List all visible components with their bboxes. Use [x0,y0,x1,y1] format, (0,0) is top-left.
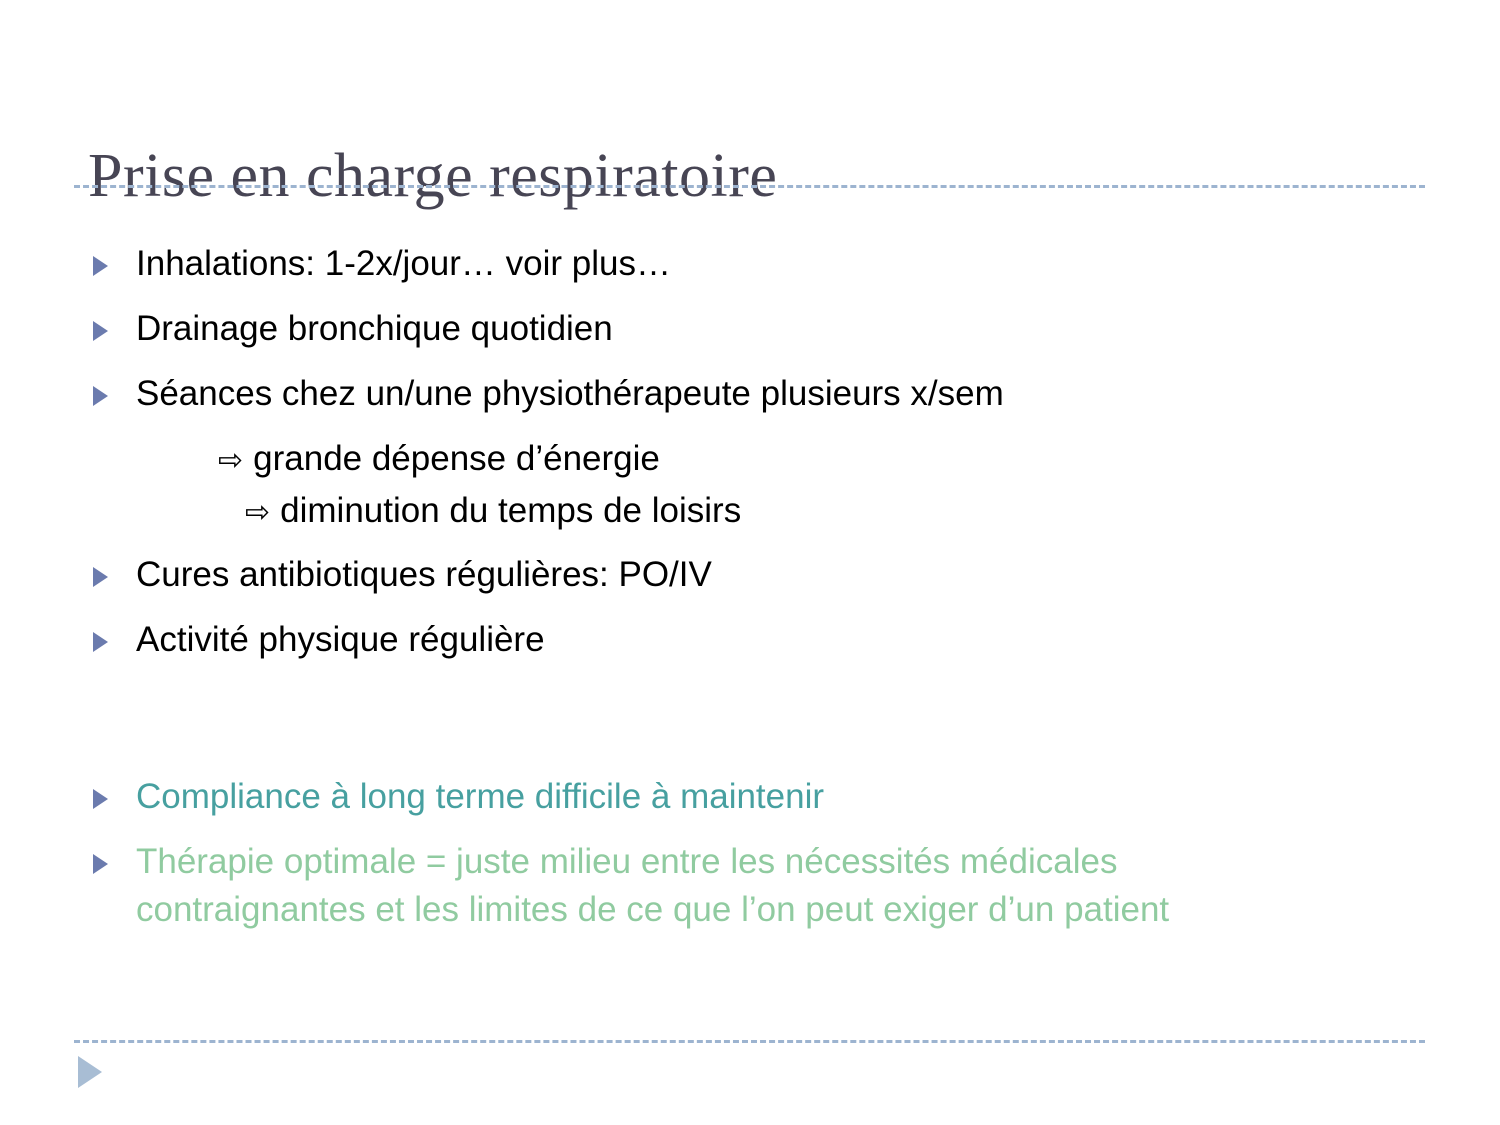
right-arrow-icon: ⇨ [245,495,280,530]
list-item-label: Inhalations: 1-2x/jour… voir plus… [136,244,671,283]
list-item[interactable]: Cures antibiotiques régulières: PO/IV [0,551,1500,599]
list-item[interactable]: Séances chez un/une physiothérapeute plu… [0,370,1500,418]
triangle-bullet-icon [93,321,108,341]
footer-divider [74,1040,1425,1043]
list-item[interactable]: Inhalations: 1-2x/jour… voir plus… [0,240,1500,288]
list-item-label: Séances chez un/une physiothérapeute plu… [136,374,1004,413]
content-body: Inhalations: 1-2x/jour… voir plus… Drain… [0,240,1500,951]
sub-list-item-label: grande dépense d’énergie [253,439,660,478]
list-item-label: Cures antibiotiques régulières: PO/IV [136,555,712,594]
sub-list-item[interactable]: ⇨grande dépense d’énergie [0,435,1500,485]
page-title: Prise en charge respiratoire [88,138,1418,214]
list-item-label: Thérapie optimale = juste milieu entre l… [136,842,1169,929]
list-item[interactable]: Drainage bronchique quotidien [0,305,1500,353]
slide: Prise en charge respiratoire Inhalations… [0,0,1500,1125]
sub-list-item-label: diminution du temps de loisirs [280,491,741,530]
footer-triangle-icon[interactable] [78,1056,102,1088]
list-item-label: Drainage bronchique quotidien [136,309,613,348]
sub-list-item[interactable]: ⇨diminution du temps de loisirs [0,487,1500,537]
triangle-bullet-icon [93,789,108,809]
triangle-bullet-icon [93,632,108,652]
title-divider-top [74,185,1425,188]
triangle-bullet-icon [93,386,108,406]
triangle-bullet-icon [93,256,108,276]
list-item-therapie[interactable]: Thérapie optimale = juste milieu entre l… [0,838,1500,934]
list-item[interactable]: Activité physique régulière [0,616,1500,664]
list-item-label: Activité physique régulière [136,620,545,659]
list-item-label: Compliance à long terme difficile à main… [136,777,824,816]
triangle-bullet-icon [93,854,108,874]
list-spacer [0,681,1500,773]
triangle-bullet-icon [93,567,108,587]
list-item-compliance[interactable]: Compliance à long terme difficile à main… [0,773,1500,821]
right-arrow-icon: ⇨ [218,443,253,478]
